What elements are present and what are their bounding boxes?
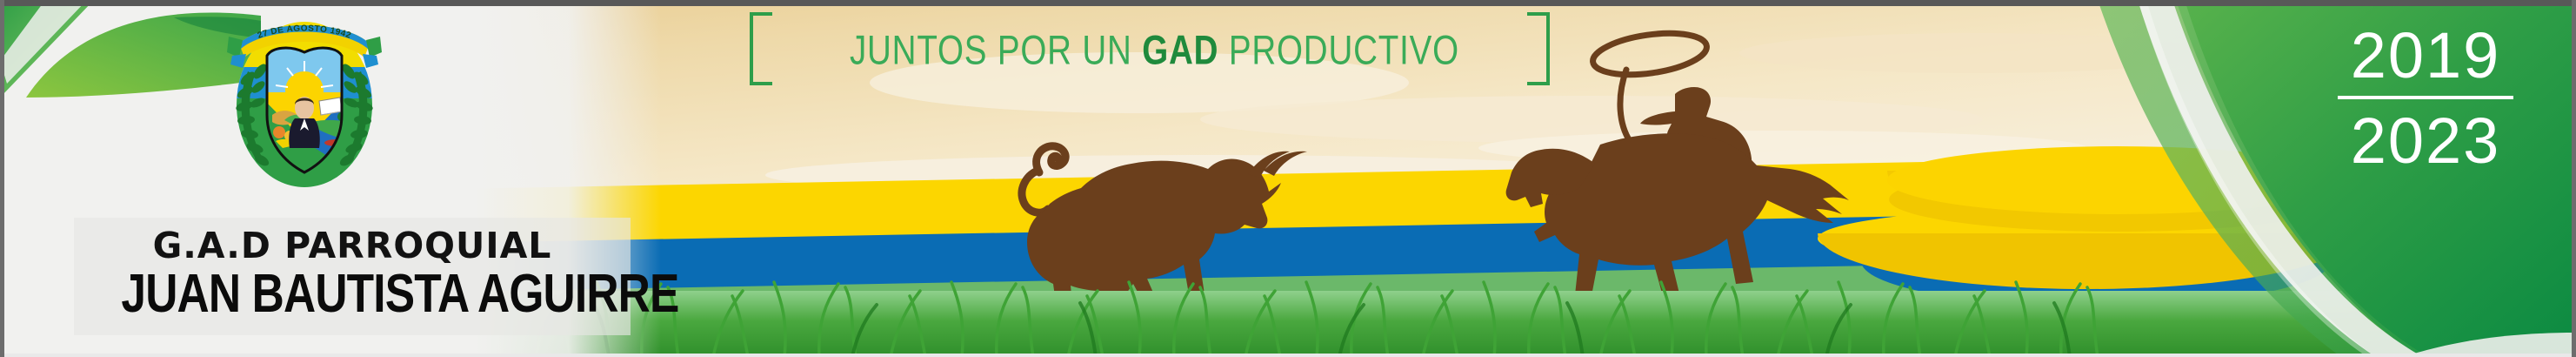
slogan-block: JUNTOS POR UN GAD PRODUCTIVO [750, 12, 1550, 87]
coat-of-arms: 27 DE AGOSTO 1942 [222, 10, 387, 198]
organization-name-block: G.A.D PARROQUIAL JUAN BAUTISTA AGUIRRE [74, 218, 631, 335]
year-divider [2338, 96, 2513, 99]
slogan-part2: PRODUCTIVO [1218, 27, 1459, 73]
right-period-panel: 2019 2023 [1967, 0, 2576, 357]
bottom-chrome-bar [0, 354, 2576, 357]
year-end: 2023 [2326, 106, 2526, 176]
bracket-left-icon [750, 12, 772, 85]
bracket-right-icon [1527, 12, 1550, 85]
left-identity-panel: 27 DE AGOSTO 1942 G.A.D PARROQUIAL JUAN … [0, 0, 661, 357]
slogan-highlight: GAD [1142, 27, 1218, 73]
top-chrome-bar [0, 0, 2576, 6]
slogan-part1: JUNTOS POR UN [850, 27, 1142, 73]
org-name-line2: JUAN BAUTISTA AGUIRRE [121, 263, 583, 325]
left-edge-bar [0, 0, 4, 357]
right-edge-bar [2572, 0, 2576, 357]
year-start: 2019 [2326, 21, 2526, 91]
org-name-line1: G.A.D PARROQUIAL [74, 225, 631, 266]
slogan-text: JUNTOS POR UN GAD PRODUCTIVO [783, 26, 1517, 74]
institutional-banner: 27 DE AGOSTO 1942 G.A.D PARROQUIAL JUAN … [0, 0, 2576, 357]
period-years: 2019 2023 [2326, 21, 2526, 176]
